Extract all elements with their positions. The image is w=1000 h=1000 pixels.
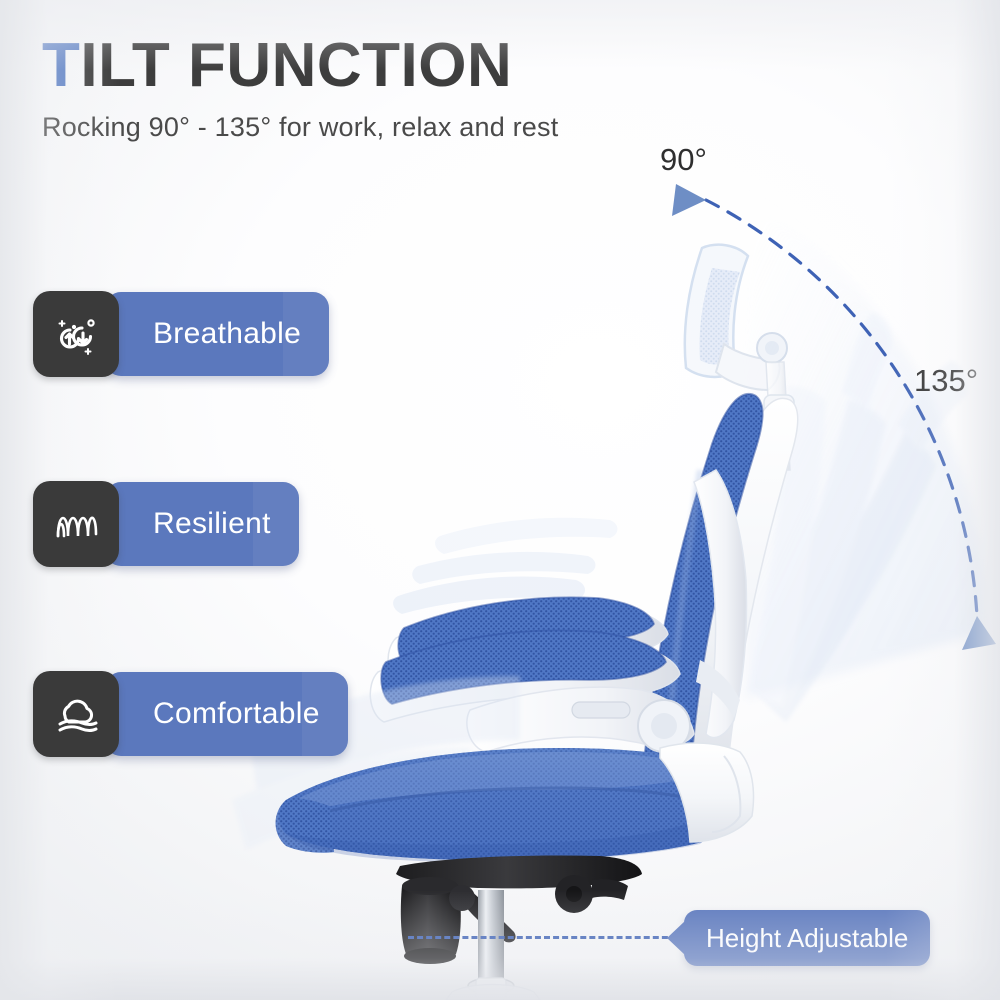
arrowhead-135 [962, 616, 996, 650]
height-leader-line [408, 936, 686, 939]
ghost-armrests [393, 518, 617, 614]
arrowhead-90 [672, 184, 706, 216]
tilt-mechanism [396, 855, 642, 964]
title-rest: ILT FUNCTION [80, 31, 512, 100]
feature-label-comfortable: Comfortable [105, 672, 348, 756]
angle-label-min: 90° [660, 142, 707, 178]
armrest-support-arm [467, 687, 694, 752]
armrest-pad-lower [370, 630, 680, 722]
angle-label-max: 135° [914, 363, 978, 399]
chair-base [446, 985, 540, 1000]
feature-badge-resilient[interactable]: Resilient [33, 478, 299, 570]
headrest-post [764, 362, 794, 470]
gas-lift-cylinder [468, 890, 514, 1000]
tilt-arc-annotation [672, 184, 996, 650]
height-adjustable-callout: Height Adjustable [684, 910, 930, 966]
ghost-headrest-upright [685, 245, 787, 390]
cloud-cushion-icon [33, 671, 119, 757]
air-circulation-icon [33, 291, 119, 377]
seat-back-connector [660, 743, 754, 842]
tilt-sweep-fan [745, 195, 985, 700]
feature-label-breathable: Breathable [105, 292, 329, 376]
header-block: TILT FUNCTION Rocking 90° - 135° for wor… [42, 34, 662, 143]
feature-label-resilient: Resilient [105, 482, 299, 566]
feature-badge-comfortable[interactable]: Comfortable [33, 668, 348, 760]
spring-coil-icon [33, 481, 119, 567]
seat-cushion [276, 748, 718, 862]
feature-badge-breathable[interactable]: Breathable [33, 288, 329, 380]
armrest-pad-upper [388, 597, 668, 682]
lumbar-support-bracket [694, 470, 747, 738]
page-subtitle: Rocking 90° - 135° for work, relax and r… [42, 112, 662, 143]
infographic-canvas: TILT FUNCTION Rocking 90° - 135° for wor… [0, 0, 1000, 1000]
title-accent-letter: T [42, 31, 80, 100]
backrest-mesh [645, 394, 798, 773]
page-title: TILT FUNCTION [42, 34, 662, 98]
